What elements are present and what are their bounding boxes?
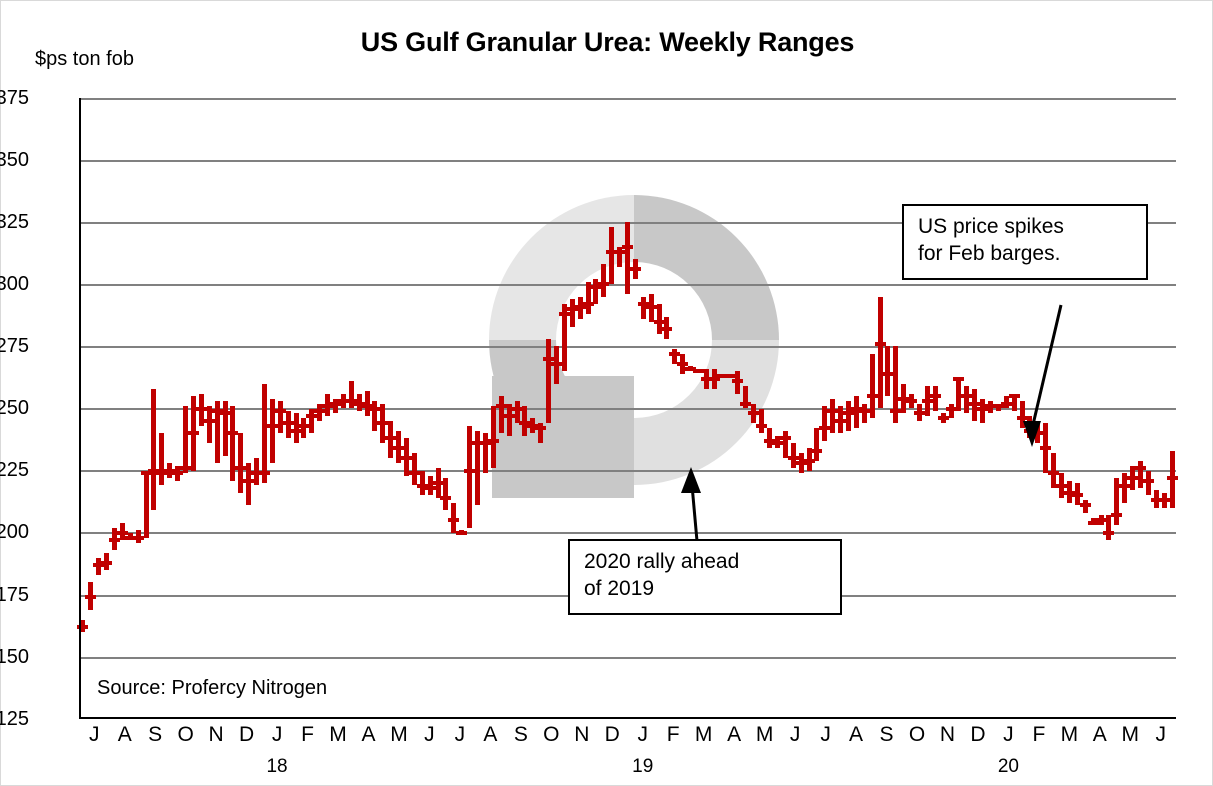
weekly-settle-tick — [109, 538, 120, 542]
weekly-range-bar — [964, 386, 969, 413]
y-tick-label: 175 — [0, 584, 29, 607]
weekly-settle-tick — [448, 518, 459, 522]
x-tick-label: J — [996, 723, 1020, 747]
weekly-settle-tick — [804, 459, 815, 463]
weekly-settle-tick — [614, 250, 625, 254]
weekly-range-bar — [570, 299, 575, 326]
x-tick-label: D — [600, 723, 624, 747]
weekly-settle-tick — [969, 402, 980, 406]
y-tick-label: 200 — [0, 521, 29, 544]
weekly-settle-tick — [835, 419, 846, 423]
x-tick-label: O — [174, 723, 198, 747]
weekly-settle-tick — [938, 416, 949, 420]
weekly-range-bar — [783, 431, 788, 458]
weekly-settle-tick — [196, 407, 207, 411]
x-year-label: 18 — [257, 756, 297, 778]
x-tick-label: S — [875, 723, 899, 747]
x-tick-label: F — [661, 723, 685, 747]
weekly-settle-tick — [583, 302, 594, 306]
x-tick-label: J — [417, 723, 441, 747]
callout-line: US price spikes — [918, 214, 1134, 241]
x-axis-year-labels: 181920 — [79, 756, 1176, 784]
weekly-settle-tick — [1103, 531, 1114, 535]
weekly-settle-tick — [543, 357, 554, 361]
weekly-settle-tick — [283, 421, 294, 425]
weekly-settle-tick — [890, 409, 901, 413]
x-year-label: 20 — [988, 756, 1028, 778]
callout-line: for Feb barges. — [918, 241, 1134, 268]
weekly-settle-tick — [748, 411, 759, 415]
x-tick-label: O — [905, 723, 929, 747]
weekly-settle-tick — [298, 424, 309, 428]
y-tick-label: 225 — [0, 459, 29, 482]
weekly-range-bar — [301, 418, 306, 438]
weekly-settle-tick — [669, 352, 680, 356]
weekly-settle-tick — [1032, 431, 1043, 435]
x-axis-line — [79, 717, 1176, 719]
weekly-range-bar — [183, 406, 188, 473]
x-tick-label: A — [478, 723, 502, 747]
weekly-range-bar — [609, 227, 614, 284]
weekly-settle-tick — [732, 379, 743, 383]
weekly-settle-tick — [535, 426, 546, 430]
weekly-settle-tick — [1143, 479, 1154, 483]
source-note: Source: Profercy Nitrogen — [97, 677, 327, 700]
x-tick-label: S — [509, 723, 533, 747]
y-tick-label: 375 — [0, 87, 29, 110]
weekly-range-bar — [862, 404, 867, 424]
y-axis-label: $ps ton fob — [35, 48, 134, 71]
weekly-settle-tick — [677, 362, 688, 366]
weekly-settle-tick — [235, 466, 246, 470]
weekly-range-bar — [515, 401, 520, 423]
weekly-settle-tick — [654, 320, 665, 324]
weekly-range-bar — [262, 384, 267, 483]
x-tick-label: M — [753, 723, 777, 747]
x-tick-label: F — [296, 723, 320, 747]
weekly-range-bar — [151, 389, 156, 511]
weekly-range-bar — [443, 478, 448, 510]
weekly-settle-tick — [906, 399, 917, 403]
weekly-range-bar — [878, 297, 883, 409]
x-tick-label: A — [113, 723, 137, 747]
weekly-settle-tick — [425, 486, 436, 490]
weekly-settle-tick — [133, 536, 144, 540]
weekly-settle-tick — [630, 267, 641, 271]
weekly-settle-tick — [243, 479, 254, 483]
x-year-label: 19 — [623, 756, 663, 778]
x-tick-label: A — [356, 723, 380, 747]
weekly-range-bar — [625, 222, 630, 294]
weekly-settle-tick — [788, 456, 799, 460]
weekly-settle-tick — [306, 414, 317, 418]
weekly-settle-tick — [227, 431, 238, 435]
weekly-settle-tick — [220, 411, 231, 415]
y-tick-label: 250 — [0, 397, 29, 420]
x-tick-label: D — [235, 723, 259, 747]
weekly-settle-tick — [693, 369, 704, 373]
callout-line: of 2019 — [584, 576, 828, 603]
x-tick-label: J — [82, 723, 106, 747]
weekly-settle-tick — [819, 426, 830, 430]
weekly-settle-tick — [401, 456, 412, 460]
y-tick-label: 350 — [0, 149, 29, 172]
weekly-settle-tick — [740, 402, 751, 406]
x-tick-label: A — [844, 723, 868, 747]
weekly-settle-tick — [440, 496, 451, 500]
weekly-settle-tick — [859, 409, 870, 413]
weekly-range-bar — [546, 339, 551, 423]
weekly-settle-tick — [1001, 402, 1012, 406]
weekly-settle-tick — [622, 245, 633, 249]
x-tick-label: J — [631, 723, 655, 747]
y-tick-label: 150 — [0, 646, 29, 669]
x-tick-label: N — [570, 723, 594, 747]
weekly-range-bar — [144, 471, 149, 538]
weekly-settle-tick — [646, 305, 657, 309]
weekly-settle-tick — [1072, 493, 1083, 497]
weekly-settle-tick — [1159, 498, 1170, 502]
weekly-range-bar — [1020, 401, 1025, 428]
weekly-settle-tick — [922, 399, 933, 403]
page-title: US Gulf Granular Urea: Weekly Ranges — [1, 27, 1213, 58]
weekly-range-bar — [830, 399, 835, 434]
weekly-settle-tick — [811, 449, 822, 453]
weekly-settle-tick — [267, 424, 278, 428]
x-tick-label: N — [204, 723, 228, 747]
weekly-settle-tick — [204, 419, 215, 423]
weekly-settle-tick — [961, 394, 972, 398]
weekly-range-bar — [980, 399, 985, 424]
weekly-settle-tick — [1080, 503, 1091, 507]
weekly-settle-tick — [946, 407, 957, 411]
weekly-settle-tick — [85, 595, 96, 599]
weekly-settle-tick — [1096, 518, 1107, 522]
weekly-settle-tick — [172, 471, 183, 475]
x-tick-label: J — [448, 723, 472, 747]
y-tick-label: 300 — [0, 273, 29, 296]
callout-rally: 2020 rally ahead of 2019 — [568, 539, 842, 615]
plot-area: 375 350 325 300 275 250 225 200 175 150 … — [79, 98, 1176, 719]
weekly-settle-tick — [882, 372, 893, 376]
x-tick-label: M — [387, 723, 411, 747]
callout-line: 2020 rally ahead — [584, 549, 828, 576]
weekly-settle-tick — [377, 421, 388, 425]
weekly-settle-tick — [433, 481, 444, 485]
weekly-settle-tick — [488, 439, 499, 443]
x-tick-label: J — [1149, 723, 1173, 747]
x-tick-label: J — [783, 723, 807, 747]
weekly-settle-tick — [496, 404, 507, 408]
weekly-settle-tick — [369, 407, 380, 411]
weekly-range-bar — [491, 406, 496, 468]
weekly-settle-tick — [559, 312, 570, 316]
weekly-settle-tick — [275, 409, 286, 413]
weekly-settle-tick — [1167, 476, 1178, 480]
weekly-settle-tick — [1048, 471, 1059, 475]
weekly-settle-tick — [385, 436, 396, 440]
weekly-settle-tick — [259, 471, 270, 475]
weekly-settle-tick — [291, 429, 302, 433]
weekly-settle-tick — [725, 374, 736, 378]
weekly-settle-tick — [1119, 484, 1130, 488]
weekly-range-bar — [814, 428, 819, 460]
weekly-range-bar — [1146, 471, 1151, 496]
weekly-range-bars — [79, 98, 1176, 719]
weekly-range-bar — [238, 433, 243, 493]
weekly-range-bar — [759, 409, 764, 434]
weekly-range-bar — [933, 386, 938, 411]
weekly-settle-tick — [875, 342, 886, 346]
weekly-settle-tick — [953, 377, 964, 381]
weekly-settle-tick — [117, 531, 128, 535]
weekly-settle-tick — [867, 394, 878, 398]
weekly-settle-tick — [1009, 394, 1020, 398]
x-tick-label: A — [722, 723, 746, 747]
x-tick-label: D — [966, 723, 990, 747]
weekly-settle-tick — [1040, 446, 1051, 450]
weekly-settle-tick — [314, 409, 325, 413]
weekly-settle-tick — [512, 407, 523, 411]
weekly-settle-tick — [188, 431, 199, 435]
weekly-range-bar — [870, 354, 875, 419]
x-tick-label: F — [1027, 723, 1051, 747]
x-tick-label: M — [1118, 723, 1142, 747]
weekly-settle-tick — [843, 411, 854, 415]
weekly-settle-tick — [598, 282, 609, 286]
weekly-range-bar — [278, 401, 283, 433]
weekly-range-bar — [412, 453, 417, 485]
weekly-settle-tick — [393, 446, 404, 450]
weekly-settle-tick — [914, 411, 925, 415]
x-tick-label: S — [143, 723, 167, 747]
weekly-settle-tick — [930, 394, 941, 398]
y-tick-label: 125 — [0, 708, 29, 731]
weekly-settle-tick — [827, 409, 838, 413]
callout-price-spike: US price spikes for Feb barges. — [902, 204, 1148, 280]
y-tick-label: 275 — [0, 335, 29, 358]
x-tick-label: N — [935, 723, 959, 747]
weekly-settle-tick — [180, 466, 191, 470]
weekly-settle-tick — [456, 531, 467, 535]
x-tick-label: J — [265, 723, 289, 747]
weekly-range-bar — [246, 463, 251, 505]
weekly-range-bar — [1106, 515, 1111, 540]
x-tick-label: J — [814, 723, 838, 747]
y-tick-label: 325 — [0, 211, 29, 234]
weekly-settle-tick — [1111, 513, 1122, 517]
x-axis-month-labels: JASONDJFMAMJJASONDJFMAMJJASONDJFMAMJ — [79, 723, 1176, 753]
weekly-settle-tick — [409, 471, 420, 475]
y-axis-line — [79, 98, 81, 719]
weekly-settle-tick — [780, 436, 791, 440]
x-tick-label: A — [1088, 723, 1112, 747]
weekly-settle-tick — [101, 561, 112, 565]
x-tick-label: M — [326, 723, 350, 747]
chart-page: US Gulf Granular Urea: Weekly Ranges $ps… — [0, 0, 1213, 786]
weekly-settle-tick — [661, 327, 672, 331]
weekly-range-bar — [1138, 461, 1143, 488]
weekly-settle-tick — [1017, 416, 1028, 420]
weekly-range-bar — [223, 401, 228, 456]
weekly-settle-tick — [1127, 476, 1138, 480]
x-tick-label: M — [692, 723, 716, 747]
weekly-settle-tick — [1135, 466, 1146, 470]
x-tick-label: O — [539, 723, 563, 747]
weekly-settle-tick — [504, 414, 515, 418]
weekly-range-bar — [159, 433, 164, 485]
weekly-settle-tick — [756, 424, 767, 428]
weekly-settle-tick — [551, 362, 562, 366]
x-tick-label: M — [1057, 723, 1081, 747]
weekly-settle-tick — [772, 441, 783, 445]
weekly-range-bar — [601, 264, 606, 296]
weekly-settle-tick — [464, 469, 475, 473]
weekly-settle-tick — [1056, 484, 1067, 488]
